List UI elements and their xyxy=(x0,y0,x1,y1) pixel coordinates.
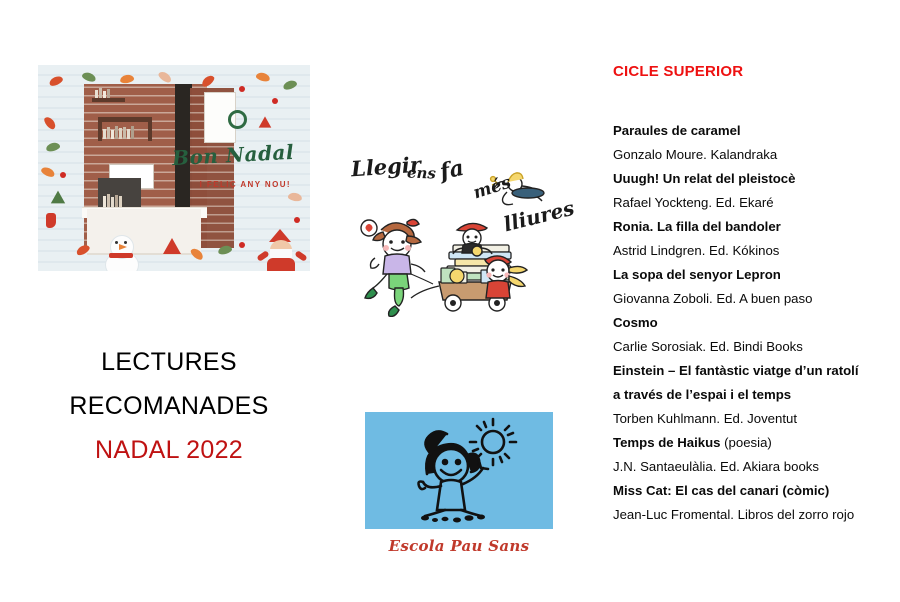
book-entry: Einstein – El fantàstic viatge d’un rato… xyxy=(613,359,863,407)
poster-page: Bon Nadal I FELIÇ ANY NOU! LECTURES RECO… xyxy=(0,0,900,602)
book-author: J.N. Santaeulàlia. Ed. Akiara books xyxy=(613,459,819,474)
school-name: Escola Pau Sans xyxy=(365,537,553,555)
books-upper xyxy=(103,123,134,139)
book-author: Gonzalo Moure. Kalandraka xyxy=(613,147,777,162)
title-line-1: LECTURES xyxy=(24,340,314,384)
book-list: Paraules de caramelGonzalo Moure. Kaland… xyxy=(613,119,863,527)
book-entry: Miss Cat: El cas del canari (còmic) xyxy=(613,479,863,503)
book-author: Jean-Luc Fromental. Libros del zorro roj… xyxy=(613,507,854,522)
book-author: Giovanna Zoboli. Ed. A buen paso xyxy=(613,291,812,306)
wall-poster xyxy=(204,92,236,143)
book-title: Ronia. La filla del bandoler xyxy=(613,219,781,234)
illustration-word-2: ens xyxy=(407,164,437,183)
cicle-superior-heading: CICLE SUPERIOR xyxy=(613,63,743,80)
newyear-greeting-text: I FELIÇ ANY NOU! xyxy=(200,180,291,189)
book-entry: Paraules de caramel xyxy=(613,119,863,143)
page-title: LECTURES RECOMANADES NADAL 2022 xyxy=(24,340,314,472)
book-author: Torben Kuhlmann. Ed. Joventut xyxy=(613,411,797,426)
bookshelf-upper xyxy=(98,117,152,122)
book-title: Miss Cat: El cas del canari (còmic) xyxy=(613,483,829,498)
bookshelf-upper-side-2 xyxy=(148,117,152,142)
book-author: Carlie Sorosiak. Ed. Bindi Books xyxy=(613,339,803,354)
title-line-2: RECOMANADES xyxy=(24,384,314,428)
santa-icon xyxy=(259,229,305,271)
title-line-3: NADAL 2022 xyxy=(24,428,314,472)
illustration-word-3: fa xyxy=(438,155,467,185)
book-title: Einstein – El fantàstic viatge d’un rato… xyxy=(613,363,859,402)
christmas-card-image: Bon Nadal I FELIÇ ANY NOU! xyxy=(38,65,310,271)
book-title: Paraules de caramel xyxy=(613,123,741,138)
book-entry: Uuugh! Un relat del pleistocè xyxy=(613,167,863,191)
school-logo xyxy=(365,412,553,529)
school-logo-drawing xyxy=(365,412,553,529)
book-title: La sopa del senyor Lepron xyxy=(613,267,781,282)
book-author: Rafael Yockteng. Ed. Ekaré xyxy=(613,195,774,210)
book-entry: Temps de Haikus (poesia) xyxy=(613,431,863,455)
books-desk xyxy=(103,193,122,207)
book-title: Cosmo xyxy=(613,315,658,330)
bookshelf-upper-side xyxy=(98,117,102,142)
book-entry: Ronia. La filla del bandoler xyxy=(613,215,863,239)
book-title-suffix: (poesia) xyxy=(721,435,772,450)
book-entry: Cosmo xyxy=(613,311,863,335)
book-title: Uuugh! Un relat del pleistocè xyxy=(613,171,795,186)
book-author: Astrid Lindgren. Ed. Kókinos xyxy=(613,243,779,258)
snowman-icon xyxy=(103,235,139,271)
bookshelf-top xyxy=(92,98,125,102)
book-entry: La sopa del senyor Lepron xyxy=(613,263,863,287)
reading-illustration: Llegir ens fa més lliures xyxy=(345,152,567,317)
books-top xyxy=(95,88,110,98)
book-title: Temps de Haikus xyxy=(613,435,721,450)
